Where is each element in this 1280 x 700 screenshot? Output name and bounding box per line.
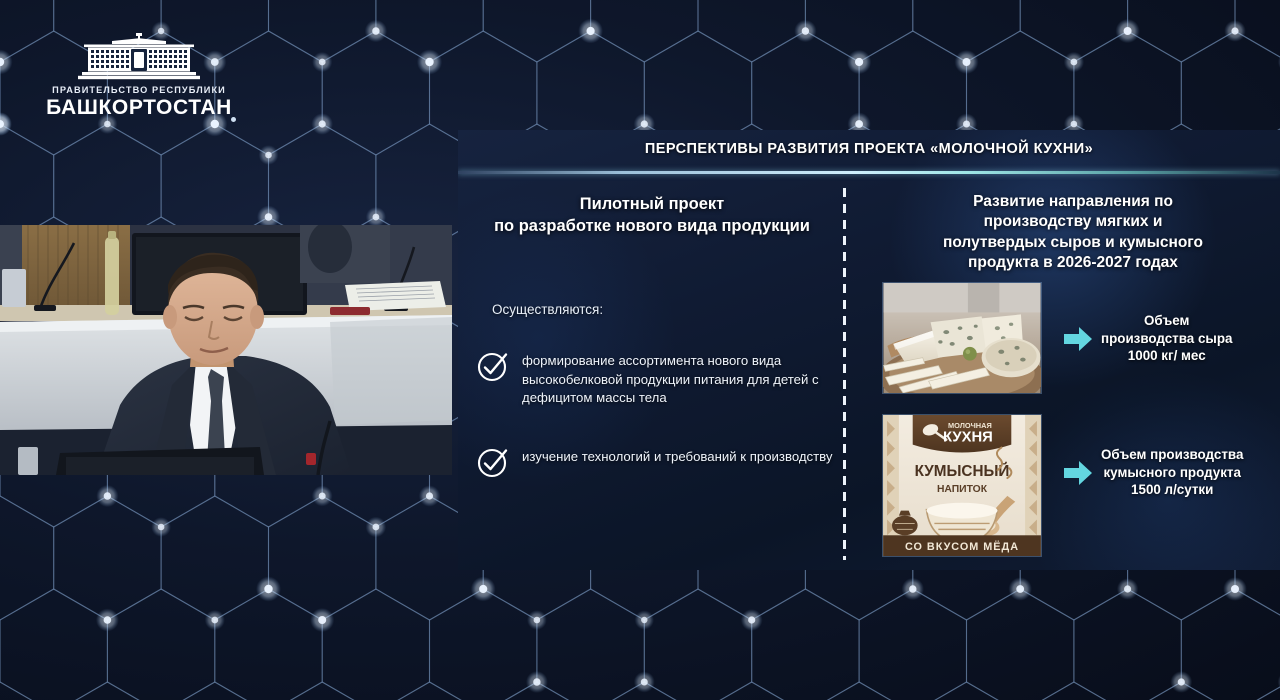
stat-kumys-volume: Объем производства кумысного продукта 15… (1062, 446, 1276, 499)
package-brand-line2: КУХНЯ (943, 430, 993, 446)
check-circle-icon (476, 349, 510, 383)
stat-text: Объем производства кумысного продукта 15… (1101, 446, 1243, 499)
package-brand-line1: МОЛОЧНАЯ (948, 421, 992, 430)
logo-line-2: БАШКОРТОСТАН (46, 96, 232, 120)
list-item: формирование ассортимента нового вида вы… (476, 352, 836, 408)
broadcast-stage: ПРАВИТЕЛЬСТВО РЕСПУБЛИКИ БАШКОРТОСТАН (0, 0, 1280, 700)
arrow-right-icon (1062, 459, 1094, 487)
stat2-line2: кумысного продукта (1103, 465, 1240, 480)
conference-speaker-frame (0, 225, 452, 475)
left-heading-line-1: Пилотный проект (580, 195, 724, 213)
package-product-line2: НАПИТОК (937, 484, 988, 495)
slide-title: ПЕРСПЕКТИВЫ РАЗВИТИЯ ПРОЕКТА «МОЛОЧНОЙ К… (458, 141, 1280, 157)
live-video-feed[interactable] (0, 225, 452, 475)
stat2-line1: Объем производства (1101, 447, 1243, 462)
government-logo: ПРАВИТЕЛЬСТВО РЕСПУБЛИКИ БАШКОРТОСТАН (46, 32, 232, 128)
left-heading-line-2: по разработке нового вида продукции (494, 217, 810, 235)
list-item: изучение технологий и требований к произ… (476, 448, 836, 479)
title-separator-rule (458, 171, 1280, 174)
right-heading-line-2: производству мягких и (984, 213, 1163, 230)
column-divider-dashed (843, 188, 846, 560)
bullet-text: формирование ассортимента нового вида вы… (522, 352, 836, 408)
right-heading-line-4: продукта в 2026-2027 годах (968, 254, 1178, 271)
check-circle-icon (476, 445, 510, 479)
left-column-intro: Осуществляются: (492, 302, 603, 317)
presentation-slide: ПЕРСПЕКТИВЫ РАЗВИТИЯ ПРОЕКТА «МОЛОЧНОЙ К… (458, 130, 1280, 570)
soft-cheese-platter-photo (882, 282, 1042, 394)
package-product-line1: КУМЫСНЫЙ (915, 462, 1010, 480)
stat2-line3: 1500 л/сутки (1131, 482, 1213, 497)
left-column-heading: Пилотный проект по разработке нового вид… (472, 194, 832, 238)
bullet-text: изучение технологий и требований к произ… (522, 448, 833, 467)
kumys-drink-package-photo: МОЛОЧНАЯ КУХНЯ КУМЫСНЫЙ НАПИТОК (882, 414, 1042, 557)
stat1-line2: производства сыра (1101, 331, 1232, 346)
stat-text: Объем производства сыра 1000 кг/ мес (1101, 312, 1232, 365)
package-flavor-text: СО ВКУСОМ МЁДА (905, 540, 1019, 553)
government-building-icon (74, 32, 204, 82)
stat1-line1: Объем (1144, 313, 1189, 328)
stat-cheese-volume: Объем производства сыра 1000 кг/ мес (1062, 312, 1276, 365)
right-heading-line-1: Развитие направления по (973, 193, 1173, 210)
right-column-heading: Развитие направления по производству мяг… (878, 192, 1268, 274)
stat1-line3: 1000 кг/ мес (1128, 348, 1206, 363)
logo-line-1: ПРАВИТЕЛЬСТВО РЕСПУБЛИКИ (52, 85, 226, 95)
logo-dot (231, 117, 236, 122)
right-heading-line-3: полутвердых сыров и кумысного (943, 234, 1203, 251)
arrow-right-icon (1062, 325, 1094, 353)
